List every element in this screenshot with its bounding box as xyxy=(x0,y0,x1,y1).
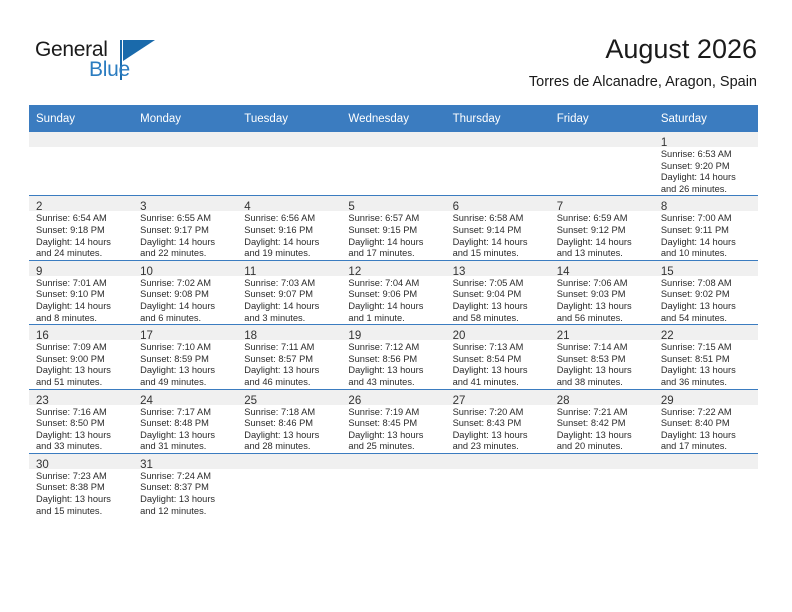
calendar-day-cell[interactable]: 7Sunrise: 6:59 AMSunset: 9:12 PMDaylight… xyxy=(550,196,654,260)
calendar-day-cell[interactable]: 25Sunrise: 7:18 AMSunset: 8:46 PMDayligh… xyxy=(237,389,341,453)
day-number-band: 20 xyxy=(446,325,550,340)
sunset-time: Sunset: 9:06 PM xyxy=(348,289,441,301)
calendar-cell-empty xyxy=(341,132,445,196)
day-cell-details: Sunrise: 7:18 AMSunset: 8:46 PMDaylight:… xyxy=(237,405,341,453)
daylight-duration-line1: Daylight: 14 hours xyxy=(140,301,233,313)
daylight-duration-line2: and 56 minutes. xyxy=(557,313,650,325)
day-number-band xyxy=(446,132,550,147)
daylight-duration-line2: and 17 minutes. xyxy=(348,248,441,260)
day-number: 4 xyxy=(244,201,250,213)
calendar-cell-empty xyxy=(550,132,654,196)
day-number-band xyxy=(341,132,445,147)
sunset-time: Sunset: 9:12 PM xyxy=(557,225,650,237)
day-number: 22 xyxy=(661,330,674,342)
day-cell-details: Sunrise: 7:17 AMSunset: 8:48 PMDaylight:… xyxy=(133,405,237,453)
sunrise-time: Sunrise: 7:11 AM xyxy=(244,342,337,354)
calendar-week-row: 30Sunrise: 7:23 AMSunset: 8:38 PMDayligh… xyxy=(29,453,758,517)
calendar-day-cell[interactable]: 26Sunrise: 7:19 AMSunset: 8:45 PMDayligh… xyxy=(341,389,445,453)
day-number-band: 25 xyxy=(237,390,341,405)
day-cell-details: Sunrise: 7:06 AMSunset: 9:03 PMDaylight:… xyxy=(550,276,654,324)
calendar-cell-empty xyxy=(133,132,237,196)
daylight-duration-line2: and 1 minute. xyxy=(348,313,441,325)
sunset-time: Sunset: 8:57 PM xyxy=(244,354,337,366)
sunrise-time: Sunrise: 6:59 AM xyxy=(557,213,650,225)
day-number-band xyxy=(341,454,445,469)
daylight-duration-line2: and 43 minutes. xyxy=(348,377,441,389)
daylight-duration-line1: Daylight: 14 hours xyxy=(557,237,650,249)
daylight-duration-line2: and 38 minutes. xyxy=(557,377,650,389)
day-number: 23 xyxy=(36,395,49,407)
daylight-duration-line2: and 15 minutes. xyxy=(453,248,546,260)
day-number: 26 xyxy=(348,395,361,407)
day-number: 3 xyxy=(140,201,146,213)
calendar-day-cell[interactable]: 15Sunrise: 7:08 AMSunset: 9:02 PMDayligh… xyxy=(654,260,758,324)
calendar-cell-empty xyxy=(446,132,550,196)
general-blue-logo: General Blue xyxy=(35,38,165,90)
day-number-band: 29 xyxy=(654,390,758,405)
day-cell-details: Sunrise: 6:58 AMSunset: 9:14 PMDaylight:… xyxy=(446,211,550,259)
daylight-duration-line2: and 23 minutes. xyxy=(453,441,546,453)
day-cell-details: Sunrise: 7:20 AMSunset: 8:43 PMDaylight:… xyxy=(446,405,550,453)
sunset-time: Sunset: 8:46 PM xyxy=(244,418,337,430)
day-number-band: 17 xyxy=(133,325,237,340)
calendar-day-cell[interactable]: 1Sunrise: 6:53 AMSunset: 9:20 PMDaylight… xyxy=(654,132,758,196)
calendar-day-cell[interactable]: 30Sunrise: 7:23 AMSunset: 8:38 PMDayligh… xyxy=(29,453,133,517)
daylight-duration-line2: and 10 minutes. xyxy=(661,248,754,260)
sunset-time: Sunset: 8:56 PM xyxy=(348,354,441,366)
day-number-band xyxy=(446,454,550,469)
sunset-time: Sunset: 8:53 PM xyxy=(557,354,650,366)
calendar-day-cell[interactable]: 11Sunrise: 7:03 AMSunset: 9:07 PMDayligh… xyxy=(237,260,341,324)
sunrise-time: Sunrise: 7:12 AM xyxy=(348,342,441,354)
calendar-day-cell[interactable]: 13Sunrise: 7:05 AMSunset: 9:04 PMDayligh… xyxy=(446,260,550,324)
weekday-header-sunday: Sunday xyxy=(29,105,133,132)
daylight-duration-line2: and 58 minutes. xyxy=(453,313,546,325)
weekday-header-thursday: Thursday xyxy=(446,105,550,132)
sunset-time: Sunset: 8:42 PM xyxy=(557,418,650,430)
sunrise-time: Sunrise: 7:22 AM xyxy=(661,407,754,419)
sunrise-time: Sunrise: 7:18 AM xyxy=(244,407,337,419)
day-cell-details: Sunrise: 7:16 AMSunset: 8:50 PMDaylight:… xyxy=(29,405,133,453)
daylight-duration-line1: Daylight: 13 hours xyxy=(453,430,546,442)
calendar-day-cell[interactable]: 29Sunrise: 7:22 AMSunset: 8:40 PMDayligh… xyxy=(654,389,758,453)
day-cell-details: Sunrise: 7:24 AMSunset: 8:37 PMDaylight:… xyxy=(133,469,237,517)
daylight-duration-line2: and 3 minutes. xyxy=(244,313,337,325)
day-number-band xyxy=(654,454,758,469)
calendar-day-cell[interactable]: 18Sunrise: 7:11 AMSunset: 8:57 PMDayligh… xyxy=(237,325,341,389)
sunrise-time: Sunrise: 7:15 AM xyxy=(661,342,754,354)
page-header: General Blue August 2026 Torres de Alcan… xyxy=(0,0,792,104)
sunset-time: Sunset: 9:02 PM xyxy=(661,289,754,301)
day-cell-details: Sunrise: 7:02 AMSunset: 9:08 PMDaylight:… xyxy=(133,276,237,324)
day-number: 27 xyxy=(453,395,466,407)
day-number: 29 xyxy=(661,395,674,407)
sunrise-time: Sunrise: 7:06 AM xyxy=(557,278,650,290)
day-number-band: 19 xyxy=(341,325,445,340)
day-cell-details: Sunrise: 7:04 AMSunset: 9:06 PMDaylight:… xyxy=(341,276,445,324)
sunset-time: Sunset: 9:04 PM xyxy=(453,289,546,301)
daylight-duration-line1: Daylight: 13 hours xyxy=(557,365,650,377)
daylight-duration-line2: and 24 minutes. xyxy=(36,248,129,260)
sunrise-time: Sunrise: 7:14 AM xyxy=(557,342,650,354)
day-number: 15 xyxy=(661,266,674,278)
sunset-time: Sunset: 8:51 PM xyxy=(661,354,754,366)
day-number-band: 15 xyxy=(654,261,758,276)
sunset-time: Sunset: 9:07 PM xyxy=(244,289,337,301)
sunset-time: Sunset: 9:20 PM xyxy=(661,161,754,173)
sunset-time: Sunset: 9:16 PM xyxy=(244,225,337,237)
calendar-day-cell[interactable]: 14Sunrise: 7:06 AMSunset: 9:03 PMDayligh… xyxy=(550,260,654,324)
day-number: 13 xyxy=(453,266,466,278)
sunset-time: Sunset: 8:38 PM xyxy=(36,482,129,494)
daylight-duration-line1: Daylight: 13 hours xyxy=(244,365,337,377)
day-number-band: 21 xyxy=(550,325,654,340)
sunrise-time: Sunrise: 7:13 AM xyxy=(453,342,546,354)
sunset-time: Sunset: 9:10 PM xyxy=(36,289,129,301)
daylight-duration-line1: Daylight: 13 hours xyxy=(244,430,337,442)
sunset-time: Sunset: 8:37 PM xyxy=(140,482,233,494)
sunrise-time: Sunrise: 7:21 AM xyxy=(557,407,650,419)
daylight-duration-line2: and 36 minutes. xyxy=(661,377,754,389)
calendar-day-cell[interactable]: 10Sunrise: 7:02 AMSunset: 9:08 PMDayligh… xyxy=(133,260,237,324)
weekday-header-saturday: Saturday xyxy=(654,105,758,132)
daylight-duration-line1: Daylight: 13 hours xyxy=(140,430,233,442)
daylight-duration-line1: Daylight: 13 hours xyxy=(36,430,129,442)
day-number: 14 xyxy=(557,266,570,278)
day-number-band: 16 xyxy=(29,325,133,340)
sunrise-time: Sunrise: 6:53 AM xyxy=(661,149,754,161)
calendar-cell-empty xyxy=(341,453,445,517)
day-number: 2 xyxy=(36,201,42,213)
day-number-band: 28 xyxy=(550,390,654,405)
daylight-duration-line2: and 8 minutes. xyxy=(36,313,129,325)
day-number-band: 12 xyxy=(341,261,445,276)
day-number: 28 xyxy=(557,395,570,407)
sunrise-time: Sunrise: 7:23 AM xyxy=(36,471,129,483)
daylight-duration-line1: Daylight: 13 hours xyxy=(348,430,441,442)
logo-secondary-text: Blue xyxy=(89,58,130,82)
daylight-duration-line1: Daylight: 13 hours xyxy=(348,365,441,377)
daylight-duration-line2: and 33 minutes. xyxy=(36,441,129,453)
day-number: 20 xyxy=(453,330,466,342)
calendar-day-cell[interactable]: 8Sunrise: 7:00 AMSunset: 9:11 PMDaylight… xyxy=(654,196,758,260)
day-number: 19 xyxy=(348,330,361,342)
calendar-cell-empty xyxy=(654,453,758,517)
day-number-band: 13 xyxy=(446,261,550,276)
calendar-day-cell[interactable]: 22Sunrise: 7:15 AMSunset: 8:51 PMDayligh… xyxy=(654,325,758,389)
calendar-day-cell[interactable]: 19Sunrise: 7:12 AMSunset: 8:56 PMDayligh… xyxy=(341,325,445,389)
daylight-duration-line1: Daylight: 14 hours xyxy=(36,301,129,313)
sunrise-time: Sunrise: 6:54 AM xyxy=(36,213,129,225)
sunrise-time: Sunrise: 7:02 AM xyxy=(140,278,233,290)
sunset-time: Sunset: 9:14 PM xyxy=(453,225,546,237)
day-number-band: 27 xyxy=(446,390,550,405)
daylight-duration-line1: Daylight: 14 hours xyxy=(36,237,129,249)
day-number: 31 xyxy=(140,459,153,471)
day-number: 7 xyxy=(557,201,563,213)
daylight-duration-line2: and 54 minutes. xyxy=(661,313,754,325)
day-number: 9 xyxy=(36,266,42,278)
calendar-week-row: 23Sunrise: 7:16 AMSunset: 8:50 PMDayligh… xyxy=(29,389,758,453)
calendar-day-cell[interactable]: 24Sunrise: 7:17 AMSunset: 8:48 PMDayligh… xyxy=(133,389,237,453)
calendar-week-row: 9Sunrise: 7:01 AMSunset: 9:10 PMDaylight… xyxy=(29,260,758,324)
sunset-time: Sunset: 9:00 PM xyxy=(36,354,129,366)
day-cell-details: Sunrise: 7:01 AMSunset: 9:10 PMDaylight:… xyxy=(29,276,133,324)
daylight-duration-line2: and 49 minutes. xyxy=(140,377,233,389)
calendar-week-row: 16Sunrise: 7:09 AMSunset: 9:00 PMDayligh… xyxy=(29,325,758,389)
weekday-header-tuesday: Tuesday xyxy=(237,105,341,132)
day-cell-details: Sunrise: 6:53 AMSunset: 9:20 PMDaylight:… xyxy=(654,147,758,195)
day-number-band: 7 xyxy=(550,196,654,211)
daylight-duration-line1: Daylight: 14 hours xyxy=(244,301,337,313)
calendar-day-cell[interactable]: 23Sunrise: 7:16 AMSunset: 8:50 PMDayligh… xyxy=(29,389,133,453)
sunrise-time: Sunrise: 7:04 AM xyxy=(348,278,441,290)
calendar-cell-empty xyxy=(446,453,550,517)
day-cell-details: Sunrise: 7:11 AMSunset: 8:57 PMDaylight:… xyxy=(237,340,341,388)
sunrise-time: Sunrise: 7:24 AM xyxy=(140,471,233,483)
calendar-header-row: Sunday Monday Tuesday Wednesday Thursday… xyxy=(29,105,758,132)
day-cell-details: Sunrise: 7:09 AMSunset: 9:00 PMDaylight:… xyxy=(29,340,133,388)
day-number-band: 4 xyxy=(237,196,341,211)
daylight-duration-line1: Daylight: 14 hours xyxy=(348,301,441,313)
day-number-band: 5 xyxy=(341,196,445,211)
sunset-time: Sunset: 8:40 PM xyxy=(661,418,754,430)
sunset-time: Sunset: 9:17 PM xyxy=(140,225,233,237)
day-cell-details: Sunrise: 7:22 AMSunset: 8:40 PMDaylight:… xyxy=(654,405,758,453)
weekday-header-wednesday: Wednesday xyxy=(341,105,445,132)
day-cell-details: Sunrise: 7:15 AMSunset: 8:51 PMDaylight:… xyxy=(654,340,758,388)
day-number: 18 xyxy=(244,330,257,342)
calendar-cell-empty xyxy=(29,132,133,196)
day-number: 24 xyxy=(140,395,153,407)
day-number-band: 11 xyxy=(237,261,341,276)
calendar-cell-empty xyxy=(550,453,654,517)
day-number-band xyxy=(237,454,341,469)
day-number-band: 3 xyxy=(133,196,237,211)
sunset-time: Sunset: 8:45 PM xyxy=(348,418,441,430)
sunset-time: Sunset: 9:15 PM xyxy=(348,225,441,237)
sunrise-time: Sunrise: 6:58 AM xyxy=(453,213,546,225)
day-number: 11 xyxy=(244,266,256,278)
sunrise-time: Sunrise: 7:17 AM xyxy=(140,407,233,419)
calendar-day-cell[interactable]: 17Sunrise: 7:10 AMSunset: 8:59 PMDayligh… xyxy=(133,325,237,389)
weekday-header-friday: Friday xyxy=(550,105,654,132)
calendar-day-cell[interactable]: 20Sunrise: 7:13 AMSunset: 8:54 PMDayligh… xyxy=(446,325,550,389)
sunset-time: Sunset: 9:03 PM xyxy=(557,289,650,301)
daylight-duration-line1: Daylight: 13 hours xyxy=(140,494,233,506)
day-cell-details: Sunrise: 7:13 AMSunset: 8:54 PMDaylight:… xyxy=(446,340,550,388)
sunset-time: Sunset: 8:48 PM xyxy=(140,418,233,430)
sunrise-time: Sunrise: 7:20 AM xyxy=(453,407,546,419)
day-cell-details: Sunrise: 7:14 AMSunset: 8:53 PMDaylight:… xyxy=(550,340,654,388)
daylight-duration-line2: and 22 minutes. xyxy=(140,248,233,260)
daylight-duration-line2: and 26 minutes. xyxy=(661,184,754,196)
day-number-band: 31 xyxy=(133,454,237,469)
daylight-duration-line1: Daylight: 13 hours xyxy=(557,301,650,313)
calendar-day-cell[interactable]: 6Sunrise: 6:58 AMSunset: 9:14 PMDaylight… xyxy=(446,196,550,260)
daylight-duration-line1: Daylight: 14 hours xyxy=(661,172,754,184)
day-number-band: 18 xyxy=(237,325,341,340)
page-subtitle: Torres de Alcanadre, Aragon, Spain xyxy=(529,72,757,92)
calendar-page: General Blue August 2026 Torres de Alcan… xyxy=(0,0,792,612)
day-cell-details: Sunrise: 7:12 AMSunset: 8:56 PMDaylight:… xyxy=(341,340,445,388)
sunrise-time: Sunrise: 7:00 AM xyxy=(661,213,754,225)
calendar-day-cell[interactable]: 5Sunrise: 6:57 AMSunset: 9:15 PMDaylight… xyxy=(341,196,445,260)
day-number-band: 24 xyxy=(133,390,237,405)
page-title: August 2026 xyxy=(529,33,757,65)
sunrise-time: Sunrise: 7:16 AM xyxy=(36,407,129,419)
day-number: 25 xyxy=(244,395,257,407)
calendar-body: 1Sunrise: 6:53 AMSunset: 9:20 PMDaylight… xyxy=(29,132,758,517)
calendar-day-cell[interactable]: 2Sunrise: 6:54 AMSunset: 9:18 PMDaylight… xyxy=(29,196,133,260)
day-cell-details: Sunrise: 6:59 AMSunset: 9:12 PMDaylight:… xyxy=(550,211,654,259)
day-number-band xyxy=(550,132,654,147)
day-cell-details: Sunrise: 7:03 AMSunset: 9:07 PMDaylight:… xyxy=(237,276,341,324)
day-number: 6 xyxy=(453,201,459,213)
day-number: 17 xyxy=(140,330,153,342)
day-number-band xyxy=(29,132,133,147)
calendar-week-row: 2Sunrise: 6:54 AMSunset: 9:18 PMDaylight… xyxy=(29,196,758,260)
day-cell-details: Sunrise: 6:55 AMSunset: 9:17 PMDaylight:… xyxy=(133,211,237,259)
day-number: 8 xyxy=(661,201,667,213)
calendar-day-cell[interactable]: 9Sunrise: 7:01 AMSunset: 9:10 PMDaylight… xyxy=(29,260,133,324)
daylight-duration-line1: Daylight: 13 hours xyxy=(661,301,754,313)
calendar-day-cell[interactable]: 27Sunrise: 7:20 AMSunset: 8:43 PMDayligh… xyxy=(446,389,550,453)
daylight-duration-line1: Daylight: 14 hours xyxy=(453,237,546,249)
daylight-duration-line1: Daylight: 13 hours xyxy=(36,494,129,506)
day-number: 16 xyxy=(36,330,49,342)
day-number-band: 1 xyxy=(654,132,758,147)
sunrise-time: Sunrise: 7:08 AM xyxy=(661,278,754,290)
day-number-band: 2 xyxy=(29,196,133,211)
daylight-duration-line1: Daylight: 13 hours xyxy=(661,430,754,442)
day-cell-details: Sunrise: 7:21 AMSunset: 8:42 PMDaylight:… xyxy=(550,405,654,453)
calendar-cell-empty xyxy=(237,453,341,517)
day-cell-details: Sunrise: 7:10 AMSunset: 8:59 PMDaylight:… xyxy=(133,340,237,388)
sunset-time: Sunset: 9:11 PM xyxy=(661,225,754,237)
calendar-day-cell[interactable]: 4Sunrise: 6:56 AMSunset: 9:16 PMDaylight… xyxy=(237,196,341,260)
day-number-band: 8 xyxy=(654,196,758,211)
daylight-duration-line2: and 46 minutes. xyxy=(244,377,337,389)
title-block: August 2026 Torres de Alcanadre, Aragon,… xyxy=(529,33,757,92)
day-number-band: 26 xyxy=(341,390,445,405)
daylight-duration-line2: and 41 minutes. xyxy=(453,377,546,389)
daylight-duration-line2: and 25 minutes. xyxy=(348,441,441,453)
sunrise-time: Sunrise: 7:10 AM xyxy=(140,342,233,354)
sunrise-time: Sunrise: 7:01 AM xyxy=(36,278,129,290)
day-number-band xyxy=(550,454,654,469)
daylight-duration-line2: and 28 minutes. xyxy=(244,441,337,453)
day-number-band: 14 xyxy=(550,261,654,276)
day-cell-details: Sunrise: 7:19 AMSunset: 8:45 PMDaylight:… xyxy=(341,405,445,453)
daylight-duration-line2: and 20 minutes. xyxy=(557,441,650,453)
sunrise-time: Sunrise: 7:03 AM xyxy=(244,278,337,290)
sunrise-time: Sunrise: 6:57 AM xyxy=(348,213,441,225)
calendar-day-cell[interactable]: 31Sunrise: 7:24 AMSunset: 8:37 PMDayligh… xyxy=(133,453,237,517)
day-number: 10 xyxy=(140,266,153,278)
calendar-day-cell[interactable]: 12Sunrise: 7:04 AMSunset: 9:06 PMDayligh… xyxy=(341,260,445,324)
sunset-time: Sunset: 8:43 PM xyxy=(453,418,546,430)
daylight-duration-line2: and 15 minutes. xyxy=(36,506,129,518)
day-cell-details: Sunrise: 7:08 AMSunset: 9:02 PMDaylight:… xyxy=(654,276,758,324)
day-number: 1 xyxy=(661,137,667,149)
day-number: 5 xyxy=(348,201,354,213)
daylight-duration-line1: Daylight: 13 hours xyxy=(661,365,754,377)
daylight-duration-line1: Daylight: 13 hours xyxy=(557,430,650,442)
calendar-day-cell[interactable]: 16Sunrise: 7:09 AMSunset: 9:00 PMDayligh… xyxy=(29,325,133,389)
day-number-band xyxy=(237,132,341,147)
daylight-duration-line2: and 6 minutes. xyxy=(140,313,233,325)
daylight-duration-line1: Daylight: 14 hours xyxy=(661,237,754,249)
sunset-time: Sunset: 8:50 PM xyxy=(36,418,129,430)
day-cell-details: Sunrise: 7:05 AMSunset: 9:04 PMDaylight:… xyxy=(446,276,550,324)
day-cell-details: Sunrise: 6:54 AMSunset: 9:18 PMDaylight:… xyxy=(29,211,133,259)
sunset-time: Sunset: 9:18 PM xyxy=(36,225,129,237)
day-cell-details: Sunrise: 7:00 AMSunset: 9:11 PMDaylight:… xyxy=(654,211,758,259)
calendar-day-cell[interactable]: 3Sunrise: 6:55 AMSunset: 9:17 PMDaylight… xyxy=(133,196,237,260)
daylight-duration-line2: and 19 minutes. xyxy=(244,248,337,260)
daylight-duration-line1: Daylight: 13 hours xyxy=(453,365,546,377)
day-number-band: 6 xyxy=(446,196,550,211)
daylight-duration-line2: and 17 minutes. xyxy=(661,441,754,453)
day-number-band: 10 xyxy=(133,261,237,276)
day-number: 12 xyxy=(348,266,361,278)
daylight-duration-line2: and 13 minutes. xyxy=(557,248,650,260)
sunset-time: Sunset: 8:54 PM xyxy=(453,354,546,366)
day-number-band: 22 xyxy=(654,325,758,340)
day-number: 30 xyxy=(36,459,49,471)
day-cell-details: Sunrise: 6:56 AMSunset: 9:16 PMDaylight:… xyxy=(237,211,341,259)
daylight-duration-line1: Daylight: 13 hours xyxy=(36,365,129,377)
day-cell-details: Sunrise: 6:57 AMSunset: 9:15 PMDaylight:… xyxy=(341,211,445,259)
sunrise-time: Sunrise: 6:56 AM xyxy=(244,213,337,225)
daylight-duration-line2: and 12 minutes. xyxy=(140,506,233,518)
day-cell-details: Sunrise: 7:23 AMSunset: 8:38 PMDaylight:… xyxy=(29,469,133,517)
daylight-duration-line1: Daylight: 13 hours xyxy=(453,301,546,313)
daylight-duration-line2: and 51 minutes. xyxy=(36,377,129,389)
daylight-duration-line1: Daylight: 13 hours xyxy=(140,365,233,377)
sunrise-time: Sunrise: 7:19 AM xyxy=(348,407,441,419)
day-number-band: 23 xyxy=(29,390,133,405)
sunrise-time: Sunrise: 6:55 AM xyxy=(140,213,233,225)
day-number: 21 xyxy=(557,330,570,342)
sunrise-time: Sunrise: 7:05 AM xyxy=(453,278,546,290)
sunrise-sunset-calendar: Sunday Monday Tuesday Wednesday Thursday… xyxy=(29,105,758,517)
weekday-header-monday: Monday xyxy=(133,105,237,132)
daylight-duration-line2: and 31 minutes. xyxy=(140,441,233,453)
daylight-duration-line1: Daylight: 14 hours xyxy=(140,237,233,249)
sunset-time: Sunset: 8:59 PM xyxy=(140,354,233,366)
sunrise-time: Sunrise: 7:09 AM xyxy=(36,342,129,354)
calendar-day-cell[interactable]: 28Sunrise: 7:21 AMSunset: 8:42 PMDayligh… xyxy=(550,389,654,453)
daylight-duration-line1: Daylight: 14 hours xyxy=(348,237,441,249)
day-number-band: 30 xyxy=(29,454,133,469)
day-number-band: 9 xyxy=(29,261,133,276)
calendar-week-row: 1Sunrise: 6:53 AMSunset: 9:20 PMDaylight… xyxy=(29,132,758,196)
calendar-day-cell[interactable]: 21Sunrise: 7:14 AMSunset: 8:53 PMDayligh… xyxy=(550,325,654,389)
sunset-time: Sunset: 9:08 PM xyxy=(140,289,233,301)
day-number-band xyxy=(133,132,237,147)
daylight-duration-line1: Daylight: 14 hours xyxy=(244,237,337,249)
calendar-cell-empty xyxy=(237,132,341,196)
